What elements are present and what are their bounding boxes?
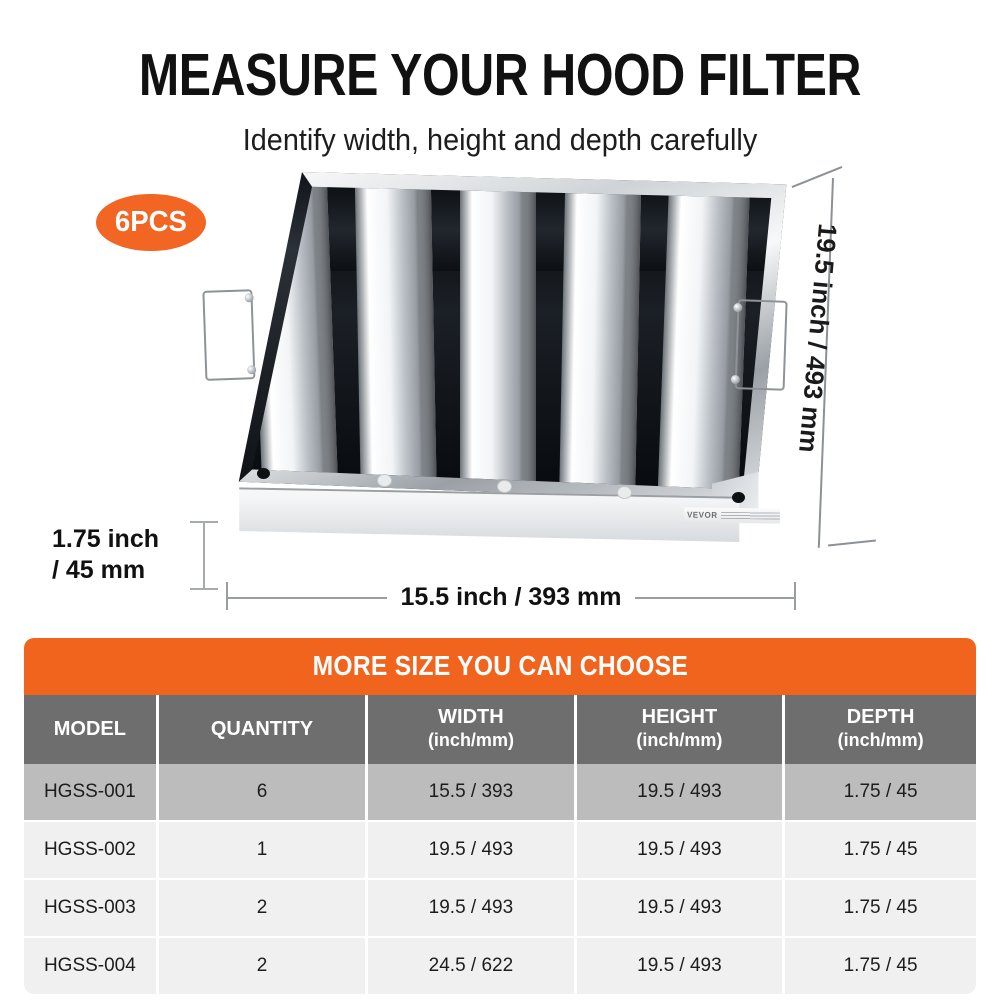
- column-header-depth-sub: (inch/mm): [787, 729, 974, 752]
- filter-cavity: [232, 172, 792, 524]
- cell-height: 19.5 / 493: [575, 764, 783, 821]
- handle-wire: [735, 299, 788, 391]
- depth-dimension-label-line2: / 45 mm: [52, 555, 197, 586]
- column-header-model-main: MODEL: [54, 718, 126, 740]
- table-header-row: MODEL QUANTITY WIDTH (inch/mm) HEIGHT (i…: [24, 695, 976, 764]
- table-row: HGSS-004 2 24.5 / 622 19.5 / 493 1.75 / …: [24, 937, 976, 994]
- size-table-banner-text: MORE SIZE YOU CAN CHOOSE: [312, 650, 688, 682]
- vevor-label: VEVOR: [684, 507, 780, 523]
- quantity-badge: 6PCS: [96, 194, 206, 251]
- width-dimension-label: 15.5 inch / 393 mm: [226, 583, 796, 612]
- cell-quantity: 1: [157, 821, 366, 879]
- vevor-label-text: VEVOR: [684, 510, 718, 520]
- filter-handle-left: [202, 289, 257, 387]
- size-table-grid: MODEL QUANTITY WIDTH (inch/mm) HEIGHT (i…: [24, 695, 976, 994]
- page-subtitle: Identify width, height and depth careful…: [35, 122, 965, 158]
- table-row: HGSS-003 2 19.5 / 493 19.5 / 493 1.75 / …: [24, 879, 976, 937]
- cell-depth: 1.75 / 45: [784, 879, 976, 937]
- cell-height: 19.5 / 493: [575, 937, 783, 994]
- depth-dimension-label: 1.75 inch / 45 mm: [52, 524, 197, 586]
- column-header-quantity-main: QUANTITY: [211, 718, 313, 740]
- cell-height: 19.5 / 493: [575, 821, 783, 879]
- baffle-blade: [559, 172, 642, 524]
- column-header-quantity: QUANTITY: [157, 695, 366, 764]
- drain-hole: [617, 486, 632, 499]
- column-header-width-main: WIDTH: [438, 706, 504, 728]
- drain-hole: [497, 480, 512, 493]
- cell-quantity: 2: [157, 879, 366, 937]
- cell-width: 15.5 / 393: [367, 764, 575, 821]
- filter-handle-right: [734, 299, 789, 397]
- cell-model: HGSS-001: [24, 764, 157, 821]
- cell-width: 24.5 / 622: [367, 937, 575, 994]
- depth-dimension-cap-bottom: [190, 588, 218, 590]
- column-header-width-sub: (inch/mm): [370, 729, 571, 752]
- cell-width: 19.5 / 493: [367, 879, 575, 937]
- cell-height: 19.5 / 493: [575, 879, 783, 937]
- cell-depth: 1.75 / 45: [784, 821, 976, 879]
- cell-width: 19.5 / 493: [367, 821, 575, 879]
- filter-top-face: [232, 172, 792, 524]
- cell-model: HGSS-004: [24, 937, 157, 994]
- baffle-blade: [460, 172, 536, 524]
- baffle-blade: [354, 172, 437, 524]
- label-fine-print: [720, 512, 780, 520]
- cell-model: HGSS-002: [24, 821, 157, 879]
- cell-depth: 1.75 / 45: [784, 937, 976, 994]
- column-header-height-sub: (inch/mm): [579, 729, 780, 752]
- drain-hole: [257, 468, 270, 479]
- cell-model: HGSS-003: [24, 879, 157, 937]
- column-header-height-main: HEIGHT: [642, 706, 718, 728]
- hood-filter-illustration: VEVOR: [232, 172, 792, 562]
- drain-hole: [732, 492, 745, 503]
- table-row: HGSS-002 1 19.5 / 493 19.5 / 493 1.75 / …: [24, 821, 976, 879]
- column-header-depth: DEPTH (inch/mm): [784, 695, 976, 764]
- table-row: HGSS-001 6 15.5 / 393 19.5 / 493 1.75 / …: [24, 764, 976, 821]
- quantity-badge-label: 6PCS: [115, 206, 187, 239]
- depth-dimension-line: [203, 522, 205, 590]
- size-table-banner: MORE SIZE YOU CAN CHOOSE: [24, 638, 976, 695]
- infographic-page: MEASURE YOUR HOOD FILTER Identify width,…: [0, 0, 1000, 1000]
- page-title: MEASURE YOUR HOOD FILTER: [90, 44, 910, 106]
- cell-quantity: 6: [157, 764, 366, 821]
- cell-depth: 1.75 / 45: [784, 764, 976, 821]
- column-header-model: MODEL: [24, 695, 157, 764]
- width-dimension-label-text: 15.5 inch / 393 mm: [387, 583, 636, 611]
- column-header-width: WIDTH (inch/mm): [367, 695, 575, 764]
- column-header-height: HEIGHT (inch/mm): [575, 695, 783, 764]
- column-header-depth-main: DEPTH: [847, 706, 915, 728]
- depth-dimension-label-line1: 1.75 inch: [52, 524, 197, 555]
- cell-quantity: 2: [157, 937, 366, 994]
- size-table: MORE SIZE YOU CAN CHOOSE MODEL QUANTITY …: [24, 638, 976, 994]
- drain-hole: [377, 474, 392, 487]
